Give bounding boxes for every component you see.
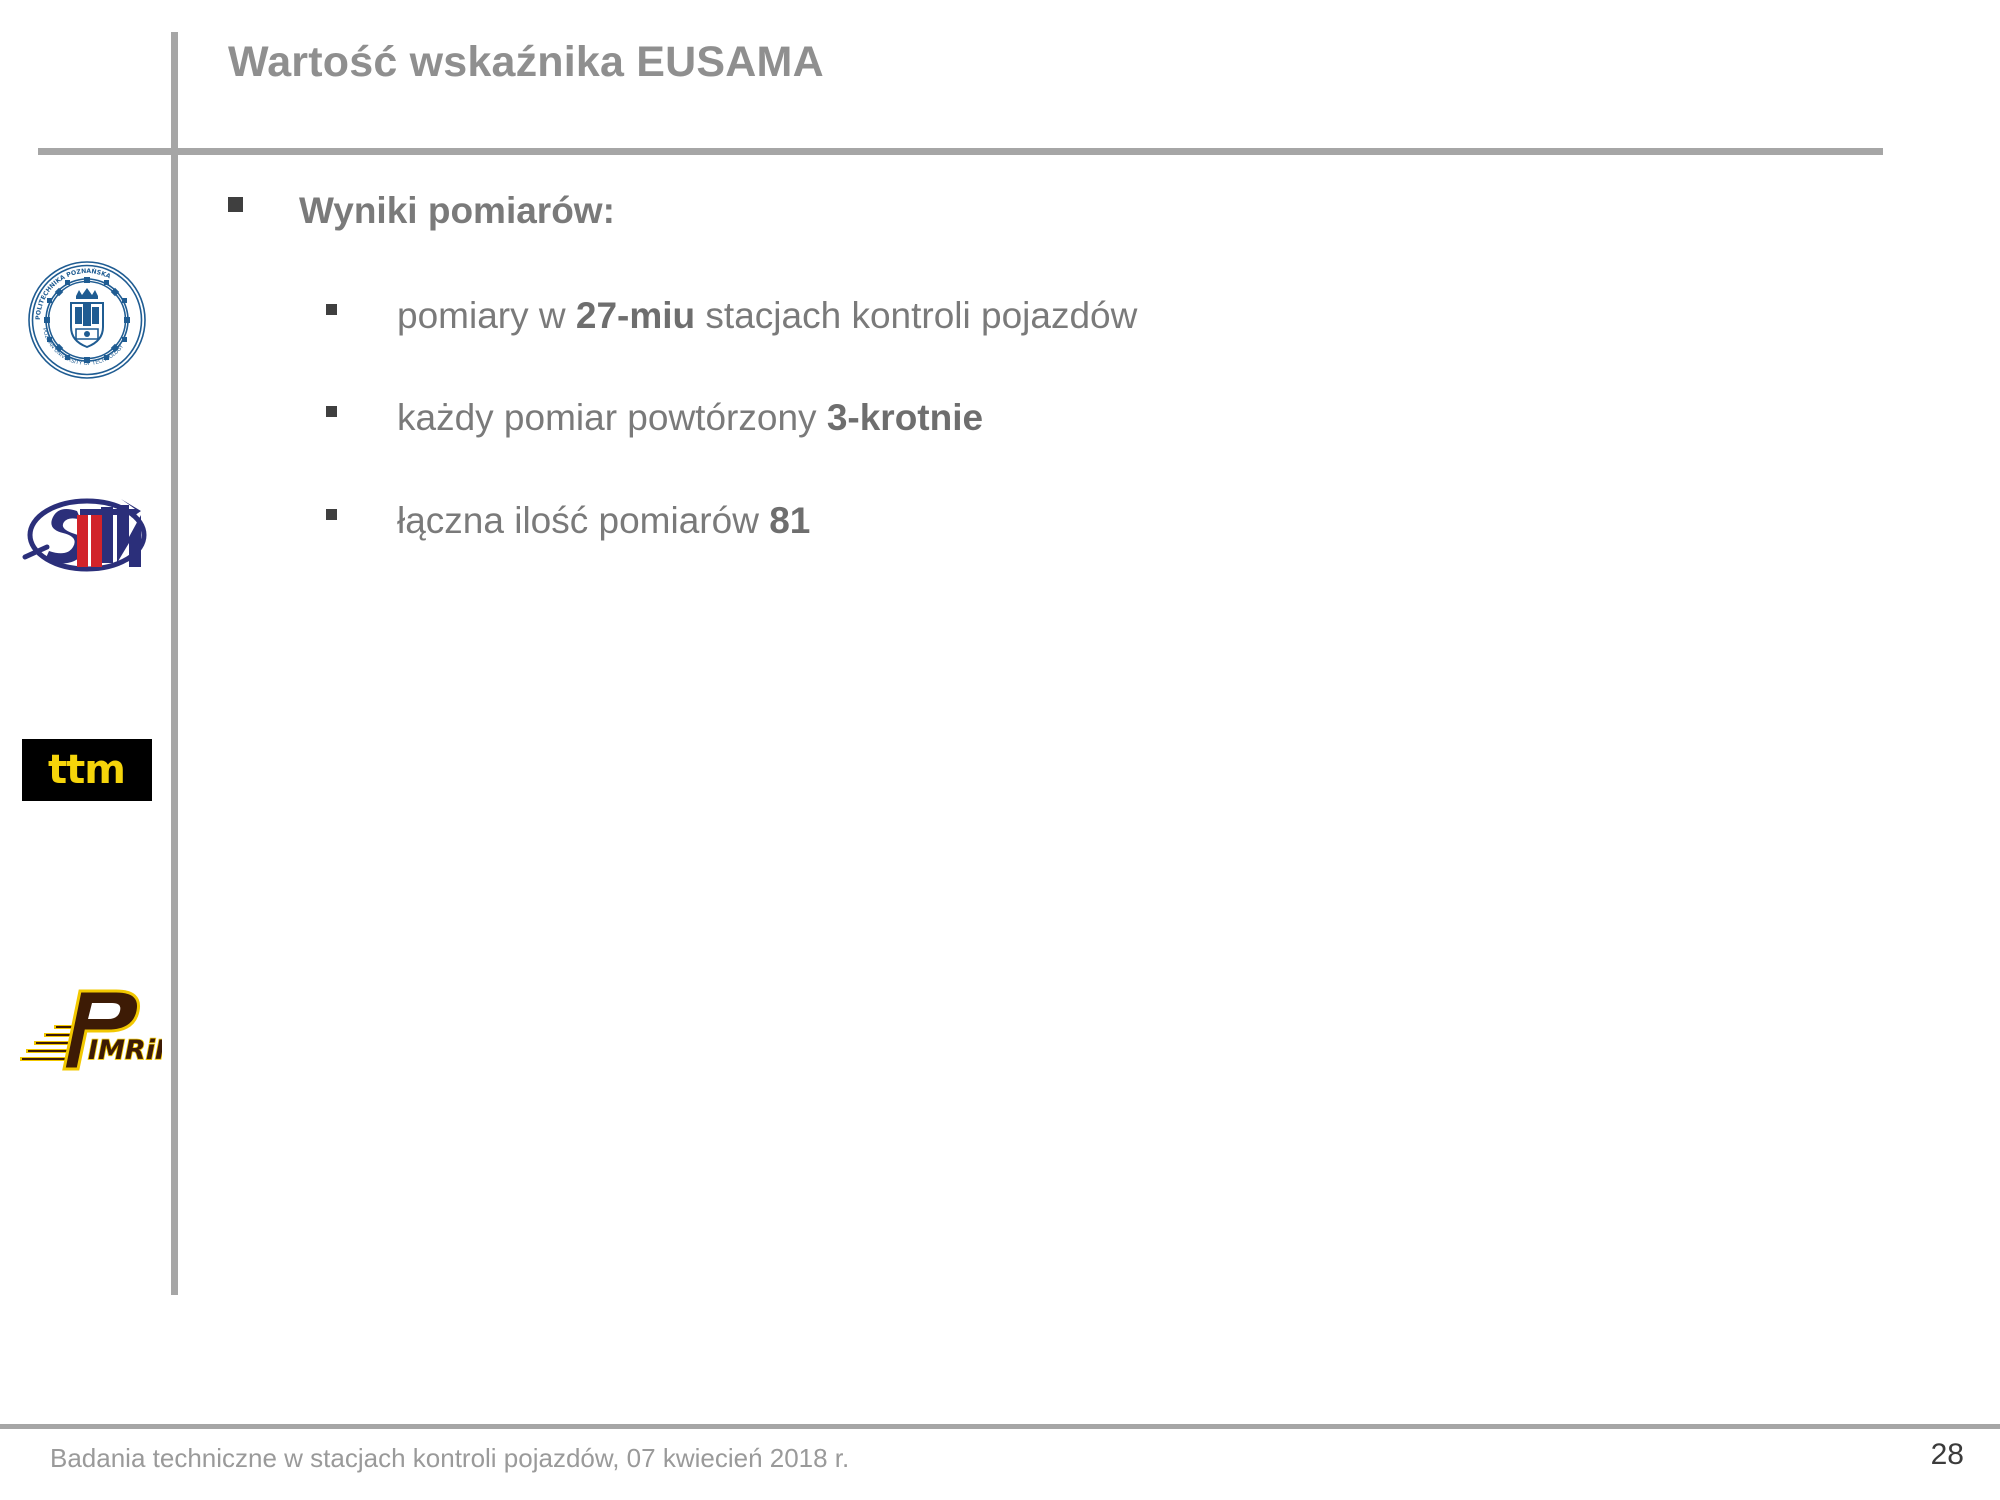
pimrips-icon: IMRiPS (12, 977, 162, 1073)
square-bullet-icon (326, 509, 337, 520)
list-item-text: łączna ilość pomiarów 81 (397, 500, 810, 543)
stm-logo (0, 480, 173, 590)
bullet-heading-text: Wyniki pomiarów: (299, 190, 615, 233)
pimrips-logo: IMRiPS (0, 975, 173, 1075)
poznan-university-of-technology-logo: POLITECHNIKA POZNAŃSKA POZNAN UNIVERSITY… (0, 255, 173, 385)
footer-text: Badania techniczne w stacjach kontroli p… (50, 1443, 849, 1474)
footer-rule (0, 1424, 2000, 1429)
slide-title: Wartość wskaźnika EUSAMA (228, 38, 824, 87)
square-bullet-icon (228, 197, 243, 212)
list-item-text-strong: 81 (769, 500, 810, 541)
logo-rail: POLITECHNIKA POZNAŃSKA POZNAN UNIVERSITY… (0, 0, 173, 1390)
page-number: 28 (1931, 1438, 1964, 1472)
presentation-slide: POLITECHNIKA POZNAŃSKA POZNAN UNIVERSITY… (0, 0, 2000, 1500)
list-item: łączna ilość pomiarów 81 (326, 500, 1828, 543)
list-item-text-before: pomiary w (397, 295, 576, 336)
list-item-text-before: każdy pomiar powtórzony (397, 397, 827, 438)
list-item-text-strong: 27-miu (576, 295, 695, 336)
square-bullet-icon (326, 304, 337, 315)
vertical-divider (171, 32, 178, 1295)
list-item-text-after: stacjach kontroli pojazdów (695, 295, 1137, 336)
square-bullet-icon (326, 406, 337, 417)
ttm-logo-box: ttm (22, 739, 152, 801)
put-seal-icon: POLITECHNIKA POZNAŃSKA POZNAN UNIVERSITY… (26, 259, 148, 381)
list-item-text-before: łączna ilość pomiarów (397, 500, 769, 541)
bullet-heading-row: Wyniki pomiarów: (228, 190, 1828, 233)
svg-text:IMRiPS: IMRiPS (88, 1035, 162, 1066)
list-item-text: każdy pomiar powtórzony 3-krotnie (397, 397, 983, 440)
ttm-logo: ttm (0, 735, 173, 805)
list-item-text-strong: 3-krotnie (827, 397, 983, 438)
slide-body: Wyniki pomiarów: pomiary w 27-miu stacja… (228, 190, 1828, 602)
list-item-text: pomiary w 27-miu stacjach kontroli pojaz… (397, 295, 1137, 338)
title-underline-rule (38, 148, 1883, 155)
list-item: pomiary w 27-miu stacjach kontroli pojaz… (326, 295, 1828, 338)
stm-icon (17, 485, 157, 585)
ttm-logo-text: ttm (48, 750, 125, 790)
list-item: każdy pomiar powtórzony 3-krotnie (326, 397, 1828, 440)
